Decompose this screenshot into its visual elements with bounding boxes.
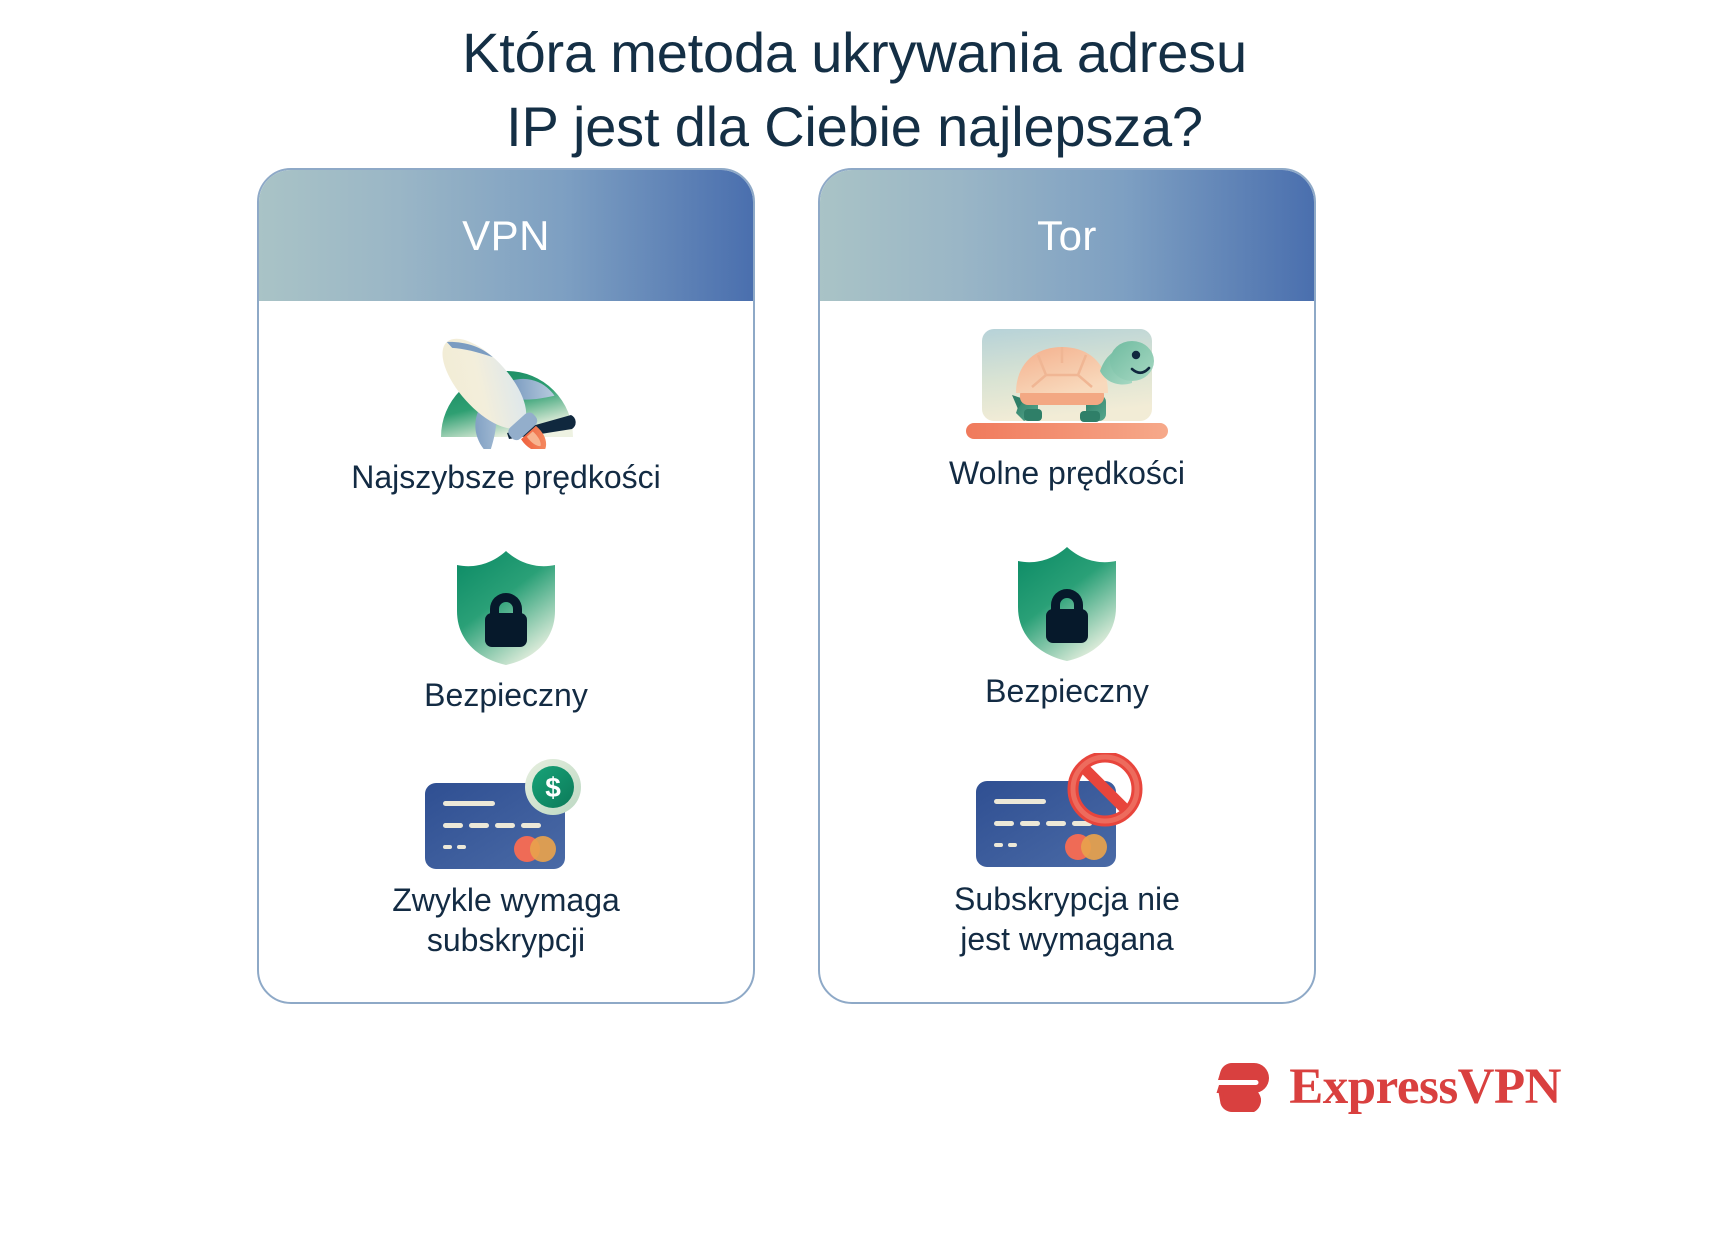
infographic-page: Która metoda ukrywania adresu IP jest dl… <box>0 0 1709 1240</box>
feature-label-line1: Bezpieczny <box>985 673 1149 709</box>
shield-lock-icon <box>451 549 561 667</box>
feature-label-tor-subscription: Subskrypcja nie jest wymagana <box>954 879 1180 959</box>
expressvpn-logo: ExpressVPN <box>1213 1056 1561 1118</box>
feature-vpn-speed: Najszybsze prędkości <box>259 319 753 497</box>
card-header-tor: Tor <box>820 170 1314 301</box>
credit-card-dollar-icon: $ <box>419 757 594 872</box>
feature-vpn-secure: Bezpieczny <box>259 549 753 715</box>
feature-label-tor-secure: Bezpieczny <box>985 671 1149 711</box>
svg-text:$: $ <box>545 772 561 803</box>
feature-label-tor-speed: Wolne prędkości <box>949 453 1185 493</box>
feature-label-line2: subskrypcji <box>392 920 620 960</box>
rocket-speedometer-icon <box>399 319 614 449</box>
page-title: Która metoda ukrywania adresu IP jest dl… <box>0 16 1709 165</box>
comparison-card-vpn: VPN <box>257 168 755 1004</box>
card-body-tor: Wolne prędkości <box>820 301 1314 1004</box>
feature-vpn-subscription: $ Zwykle wymaga subskrypcji <box>259 757 753 960</box>
feature-label-vpn-subscription: Zwykle wymaga subskrypcji <box>392 880 620 960</box>
card-header-vpn: VPN <box>259 170 753 301</box>
turtle-laptop-icon <box>960 325 1175 445</box>
feature-label-vpn-secure: Bezpieczny <box>424 675 588 715</box>
page-title-line-1: Która metoda ukrywania adresu <box>0 16 1709 90</box>
feature-label-line1: Zwykle wymaga <box>392 882 620 918</box>
card-header-label-vpn: VPN <box>462 212 550 260</box>
feature-tor-secure: Bezpieczny <box>820 545 1314 711</box>
comparison-card-tor: Tor <box>818 168 1316 1004</box>
feature-tor-subscription: Subskrypcja nie jest wymagana <box>820 753 1314 959</box>
card-header-label-tor: Tor <box>1037 212 1097 260</box>
expressvpn-wordmark: ExpressVPN <box>1289 1062 1561 1113</box>
credit-card-prohibited-icon <box>970 753 1165 871</box>
expressvpn-e-mark-icon <box>1213 1056 1275 1118</box>
feature-tor-speed: Wolne prędkości <box>820 325 1314 493</box>
card-body-vpn: Najszybsze prędkości <box>259 301 753 1004</box>
feature-label-line1: Najszybsze prędkości <box>351 459 660 495</box>
page-title-line-2: IP jest dla Ciebie najlepsza? <box>0 90 1709 164</box>
feature-label-line2: jest wymagana <box>954 919 1180 959</box>
feature-label-line1: Wolne prędkości <box>949 455 1185 491</box>
feature-label-vpn-speed: Najszybsze prędkości <box>351 457 660 497</box>
feature-label-line1: Subskrypcja nie <box>954 881 1180 917</box>
comparison-cards: VPN <box>0 168 1709 1008</box>
feature-label-line1: Bezpieczny <box>424 677 588 713</box>
shield-lock-icon <box>1012 545 1122 663</box>
